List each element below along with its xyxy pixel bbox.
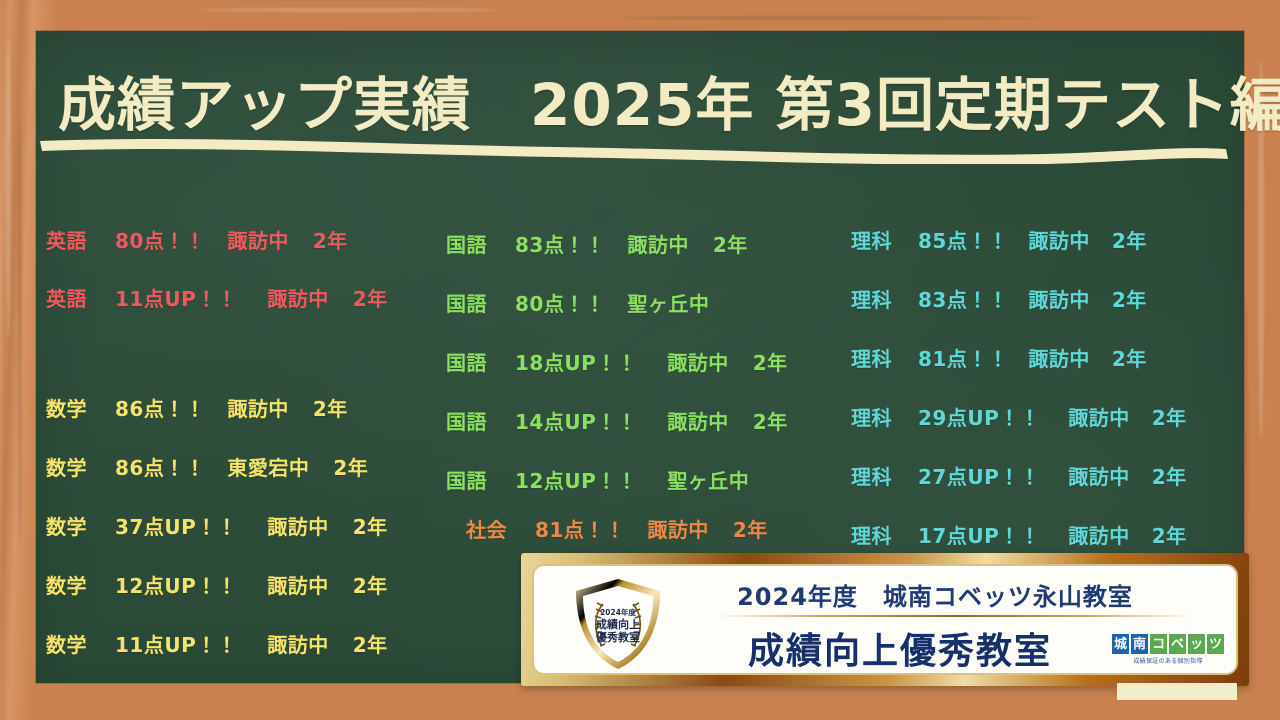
result-score: 18点UP！！ xyxy=(515,347,637,376)
result-row: 数学86点！！諏訪中2年 xyxy=(46,393,348,422)
result-row: 国語18点UP！！諏訪中2年 xyxy=(446,347,788,376)
slide-canvas: 成績アップ実績 2025年 第3回定期テスト編 英語80点！！諏訪中2年英語11… xyxy=(0,0,1280,720)
logo-tagline: 成績保証のある個別指導 xyxy=(1112,656,1224,665)
result-school: 諏訪中 xyxy=(1068,520,1130,549)
logo-char: 城 xyxy=(1112,634,1129,654)
result-school: 聖ヶ丘中 xyxy=(667,465,749,494)
result-score: 14点UP！！ xyxy=(515,406,637,435)
result-grade: 2年 xyxy=(1152,402,1187,431)
result-subject: 数学 xyxy=(46,511,87,540)
result-school: 諏訪中 xyxy=(667,347,729,376)
result-school: 諏訪中 xyxy=(267,283,329,312)
result-grade: 2年 xyxy=(353,283,388,312)
result-grade: 2年 xyxy=(1112,284,1147,313)
result-subject: 国語 xyxy=(446,229,487,258)
result-row: 理科83点！！諏訪中2年 xyxy=(851,284,1147,313)
award-shield-icon: 2024年度 成績向上 優秀教室 xyxy=(572,576,664,672)
result-grade: 2年 xyxy=(713,229,748,258)
result-subject: 数学 xyxy=(46,629,87,658)
result-score: 86点！！ xyxy=(115,452,205,481)
result-row: 理科81点！！諏訪中2年 xyxy=(851,343,1147,372)
result-subject: 国語 xyxy=(446,465,487,494)
result-score: 11点UP！！ xyxy=(115,629,237,658)
result-subject: 国語 xyxy=(446,406,487,435)
result-subject: 理科 xyxy=(851,402,892,431)
logo-char: ツ xyxy=(1207,634,1224,654)
result-row: 国語83点！！諏訪中2年 xyxy=(446,229,748,258)
result-row: 数学37点UP！！諏訪中2年 xyxy=(46,511,388,540)
result-subject: 理科 xyxy=(851,225,892,254)
result-grade: 2年 xyxy=(313,393,348,422)
wood-streak xyxy=(6,40,11,340)
result-subject: 理科 xyxy=(851,284,892,313)
result-score: 12点UP！！ xyxy=(115,570,237,599)
result-school: 諏訪中 xyxy=(667,406,729,435)
result-school: 諏訪中 xyxy=(627,229,689,258)
result-subject: 国語 xyxy=(446,288,487,317)
result-grade: 2年 xyxy=(313,225,348,254)
result-grade: 2年 xyxy=(1112,343,1147,372)
result-subject: 社会 xyxy=(466,514,507,543)
result-subject: 理科 xyxy=(851,461,892,490)
result-subject: 数学 xyxy=(46,393,87,422)
result-grade: 2年 xyxy=(733,514,768,543)
result-score: 86点！！ xyxy=(115,393,205,422)
result-school: 東愛宕中 xyxy=(227,452,309,481)
award-banner-divider xyxy=(717,615,1194,617)
result-subject: 理科 xyxy=(851,343,892,372)
result-subject: 理科 xyxy=(851,520,892,549)
result-score: 17点UP！！ xyxy=(918,520,1040,549)
shield-year: 2024年度 xyxy=(600,607,636,617)
result-row: 理科85点！！諏訪中2年 xyxy=(851,225,1147,254)
result-school: 諏訪中 xyxy=(1028,225,1090,254)
result-score: 85点！！ xyxy=(918,225,1008,254)
result-row: 理科17点UP！！諏訪中2年 xyxy=(851,520,1187,549)
johnan-kobetsu-logo: 城南コベッツ 成績保証のある個別指導 xyxy=(1112,634,1224,665)
result-grade: 2年 xyxy=(1112,225,1147,254)
result-score: 12点UP！！ xyxy=(515,465,637,494)
result-grade: 2年 xyxy=(353,511,388,540)
result-row: 英語11点UP！！諏訪中2年 xyxy=(46,283,388,312)
award-banner-inner: 2024年度 成績向上 優秀教室 2024年度 城南コベッツ永山教室 成績向上優… xyxy=(532,564,1238,675)
award-banner: 2024年度 成績向上 優秀教室 2024年度 城南コベッツ永山教室 成績向上優… xyxy=(521,553,1249,686)
result-row: 理科29点UP！！諏訪中2年 xyxy=(851,402,1187,431)
result-school: 聖ヶ丘中 xyxy=(627,288,709,317)
logo-char: コ xyxy=(1150,634,1167,654)
result-subject: 数学 xyxy=(46,452,87,481)
result-row: 英語80点！！諏訪中2年 xyxy=(46,225,348,254)
result-score: 80点！！ xyxy=(515,288,605,317)
result-score: 83点！！ xyxy=(515,229,605,258)
result-score: 83点！！ xyxy=(918,284,1008,313)
result-school: 諏訪中 xyxy=(227,225,289,254)
result-score: 29点UP！！ xyxy=(918,402,1040,431)
result-score: 81点！！ xyxy=(918,343,1008,372)
result-school: 諏訪中 xyxy=(267,511,329,540)
award-banner-subtitle: 2024年度 城南コベッツ永山教室 xyxy=(684,577,1226,612)
result-row: 数学11点UP！！諏訪中2年 xyxy=(46,629,388,658)
result-score: 11点UP！！ xyxy=(115,283,237,312)
result-grade: 2年 xyxy=(353,629,388,658)
result-school: 諏訪中 xyxy=(267,570,329,599)
logo-char: ベ xyxy=(1169,634,1186,654)
result-row: 国語14点UP！！諏訪中2年 xyxy=(446,406,788,435)
result-grade: 2年 xyxy=(353,570,388,599)
result-subject: 数学 xyxy=(46,570,87,599)
result-grade: 2年 xyxy=(1152,520,1187,549)
result-row: 社会81点！！諏訪中2年 xyxy=(466,514,768,543)
wood-streak xyxy=(200,8,500,12)
result-score: 27点UP！！ xyxy=(918,461,1040,490)
result-school: 諏訪中 xyxy=(1028,343,1090,372)
result-subject: 英語 xyxy=(46,283,87,312)
result-row: 国語12点UP！！聖ヶ丘中 xyxy=(446,465,749,494)
result-school: 諏訪中 xyxy=(1068,402,1130,431)
result-row: 国語80点！！聖ヶ丘中 xyxy=(446,288,709,317)
result-grade: 2年 xyxy=(1152,461,1187,490)
result-school: 諏訪中 xyxy=(1068,461,1130,490)
chalkboard: 成績アップ実績 2025年 第3回定期テスト編 英語80点！！諏訪中2年英語11… xyxy=(36,31,1244,683)
result-school: 諏訪中 xyxy=(647,514,709,543)
wood-streak xyxy=(620,16,1040,20)
result-grade: 2年 xyxy=(333,452,368,481)
result-score: 80点！！ xyxy=(115,225,205,254)
shield-line2: 成績向上 xyxy=(596,617,640,631)
result-grade: 2年 xyxy=(753,406,788,435)
result-score: 81点！！ xyxy=(535,514,625,543)
result-score: 37点UP！！ xyxy=(115,511,237,540)
logo-char-row: 城南コベッツ xyxy=(1112,634,1224,654)
chalk-underline-icon xyxy=(36,132,1231,164)
logo-char: ッ xyxy=(1188,634,1205,654)
logo-char: 南 xyxy=(1131,634,1148,654)
chalk-stick xyxy=(1117,683,1237,700)
result-grade: 2年 xyxy=(753,347,788,376)
shield-line3: 優秀教室 xyxy=(595,630,640,644)
result-row: 数学12点UP！！諏訪中2年 xyxy=(46,570,388,599)
result-school: 諏訪中 xyxy=(1028,284,1090,313)
result-subject: 英語 xyxy=(46,225,87,254)
page-title: 成績アップ実績 2025年 第3回定期テスト編 xyxy=(58,58,1228,142)
result-row: 理科27点UP！！諏訪中2年 xyxy=(851,461,1187,490)
result-school: 諏訪中 xyxy=(267,629,329,658)
wood-streak xyxy=(18,120,22,540)
result-subject: 国語 xyxy=(446,347,487,376)
result-school: 諏訪中 xyxy=(227,393,289,422)
result-row: 数学86点！！東愛宕中2年 xyxy=(46,452,368,481)
